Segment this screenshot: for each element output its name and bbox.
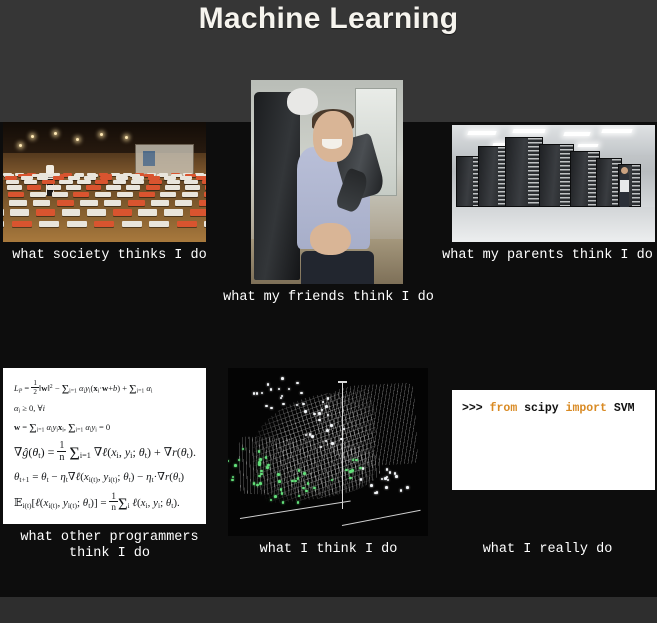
data-point	[270, 499, 273, 502]
space-3	[607, 402, 614, 415]
seated-person	[146, 185, 161, 190]
seated-person	[24, 180, 37, 184]
data-point	[318, 419, 321, 422]
ceiling-lamp	[19, 144, 22, 147]
data-point	[282, 501, 285, 504]
data-point	[305, 434, 308, 437]
data-point	[274, 495, 277, 498]
data-point	[325, 440, 328, 443]
data-point	[385, 486, 388, 489]
man-with-robot-photo	[251, 80, 403, 284]
data-point	[296, 382, 299, 385]
data-point	[270, 388, 273, 391]
seat-rows	[3, 170, 206, 242]
data-point	[291, 480, 294, 483]
data-point	[322, 401, 325, 404]
panel-really: >>> from scipy import SVM what I really …	[438, 368, 657, 578]
seated-person	[8, 192, 24, 197]
seated-person	[52, 192, 68, 197]
seated-person	[113, 209, 132, 215]
seated-person	[182, 192, 198, 197]
seated-person	[160, 192, 176, 197]
ceiling-lamp	[76, 138, 79, 141]
panel-friends: what my friends think I do	[219, 80, 438, 325]
seated-person	[128, 200, 145, 206]
caption-society: what society thinks I do	[0, 248, 219, 264]
lecture-hall-photo	[3, 122, 206, 242]
data-point	[265, 405, 268, 408]
ceiling-light	[512, 129, 546, 133]
seated-person	[164, 209, 183, 215]
seated-person	[126, 185, 141, 190]
seated-person	[42, 180, 55, 184]
seated-person	[151, 200, 168, 206]
data-point	[296, 404, 299, 407]
seated-person	[104, 200, 121, 206]
seated-person	[165, 185, 180, 190]
seated-person	[57, 200, 74, 206]
seated-person	[167, 180, 180, 184]
data-point	[270, 407, 273, 410]
seated-person	[62, 209, 81, 215]
python-repl-panel[interactable]: >>> from scipy import SVM	[452, 390, 655, 490]
server-room-photo	[452, 125, 655, 242]
equation-expectation: 𝔼i(t)[ℓ(xi(t), yi(t); θt)] = 1nΣi ℓ(xi, …	[14, 491, 197, 512]
data-point	[349, 470, 352, 473]
data-point	[406, 486, 409, 489]
data-point	[228, 460, 229, 463]
seated-person	[9, 200, 26, 206]
seated-person	[149, 180, 162, 184]
data-point	[370, 484, 373, 487]
seated-person	[73, 192, 89, 197]
module-scipy: scipy	[524, 402, 559, 415]
equation-lagrangian: LP = 12‖w‖2 − Σi=1 αiyi(xi·w+b) + Σi=1 α…	[14, 379, 197, 396]
data-point	[232, 476, 235, 479]
data-point	[321, 409, 324, 412]
data-point	[400, 489, 403, 492]
data-point	[386, 468, 389, 471]
ceiling-light	[602, 129, 634, 133]
data-point	[313, 487, 316, 490]
seated-person	[204, 221, 206, 228]
equation-weights: w = Σi=1 αiyixi, Σi=1 αiyi = 0	[14, 422, 197, 434]
data-point	[267, 383, 270, 386]
symbol-svm: SVM	[614, 402, 635, 415]
equation-list: LP = 12‖w‖2 − Σi=1 αiyi(xi·w+b) + Σi=1 α…	[3, 368, 206, 524]
seated-person	[47, 185, 62, 190]
caption-really: what I really do	[438, 542, 657, 558]
data-point	[278, 480, 281, 483]
data-point	[281, 377, 284, 380]
seated-person	[33, 200, 50, 206]
data-point	[281, 492, 284, 495]
seated-person	[138, 209, 157, 215]
rack-face	[632, 165, 640, 206]
data-point	[343, 428, 346, 431]
data-point	[256, 484, 259, 487]
robot-head	[287, 88, 317, 115]
data-point	[307, 482, 310, 485]
equation-constraint: αi ≥ 0, ∀i	[14, 403, 197, 415]
data-point	[280, 397, 283, 400]
data-point	[266, 466, 269, 469]
data-point	[278, 388, 281, 391]
data-point	[313, 413, 316, 416]
data-point	[305, 490, 308, 493]
data-point	[259, 482, 262, 485]
data-point	[253, 392, 256, 395]
data-point	[277, 473, 280, 476]
data-point	[331, 479, 334, 482]
man-head	[313, 111, 353, 162]
seated-person	[131, 180, 144, 184]
data-point	[297, 477, 300, 480]
seated-person	[205, 185, 206, 190]
space-2	[559, 402, 566, 415]
seated-person	[6, 180, 19, 184]
data-point	[349, 477, 352, 480]
panel-society: what society thinks I do	[0, 122, 219, 322]
seated-person	[113, 180, 126, 184]
data-point	[352, 459, 355, 462]
data-point	[374, 492, 377, 495]
data-point	[234, 464, 237, 467]
seated-person	[39, 221, 59, 228]
seated-person	[3, 209, 4, 215]
data-point	[327, 414, 330, 417]
ceiling-lamp	[54, 132, 57, 135]
seated-person	[80, 200, 97, 206]
man-clasped-hands	[310, 223, 351, 256]
equation-update: θt+1 = θt − ηt∇ℓ(xi(t), yi(t); θt) − ηt·…	[14, 470, 197, 484]
data-point	[303, 472, 306, 475]
seated-person	[149, 221, 169, 228]
data-point	[394, 472, 397, 475]
panel-parents: what my parents think I do	[438, 122, 657, 322]
technician-figure	[620, 173, 629, 207]
data-point	[294, 480, 297, 483]
seated-person	[122, 221, 142, 228]
data-point	[258, 450, 261, 453]
data-point	[355, 459, 358, 462]
data-point	[302, 403, 305, 406]
seated-person	[204, 192, 206, 197]
seated-person	[30, 192, 46, 197]
seated-person	[86, 185, 101, 190]
server-rack	[505, 137, 544, 207]
data-point	[309, 433, 312, 436]
seated-person	[106, 185, 121, 190]
data-point	[340, 438, 343, 441]
seated-person	[94, 221, 114, 228]
seated-person	[199, 200, 206, 206]
data-point	[298, 469, 301, 472]
seated-person	[67, 221, 87, 228]
data-point	[302, 487, 305, 490]
data-point	[297, 501, 300, 504]
seated-person	[3, 221, 4, 228]
data-point	[282, 403, 285, 406]
data-point	[261, 392, 264, 395]
data-point	[298, 495, 301, 498]
keyword-from: from	[490, 402, 518, 415]
data-point	[311, 435, 314, 438]
data-point	[238, 459, 241, 462]
data-point	[327, 397, 330, 400]
data-point	[360, 478, 363, 481]
data-point	[387, 479, 390, 482]
server-rack	[539, 144, 573, 207]
data-point	[330, 424, 333, 427]
seated-person	[59, 180, 72, 184]
seated-person	[139, 192, 155, 197]
svm-3d-plot	[228, 368, 428, 536]
data-point	[326, 429, 329, 432]
caption-parents: what my parents think I do	[438, 248, 657, 264]
math-equations-panel: LP = 12‖w‖2 − Σi=1 αiyi(xi·w+b) + Σi=1 α…	[3, 368, 206, 524]
meme-canvas: Machine Learning what society thinks I d…	[0, 0, 657, 623]
seated-person	[177, 221, 197, 228]
panel-think: what I think I do	[219, 368, 438, 578]
data-point	[265, 456, 268, 459]
ceiling-light	[468, 131, 498, 135]
data-point	[345, 469, 348, 472]
panel-programmers: LP = 12‖w‖2 − Σi=1 αiyi(xi·w+b) + Σi=1 α…	[0, 368, 219, 578]
data-point	[389, 471, 392, 474]
data-point	[318, 412, 321, 415]
data-point	[242, 448, 245, 451]
ceiling-light	[577, 144, 598, 147]
data-point	[258, 475, 261, 478]
data-point	[325, 405, 328, 408]
seated-person	[27, 185, 42, 190]
seated-person	[77, 180, 90, 184]
data-point	[231, 479, 234, 482]
data-point	[300, 392, 303, 395]
seated-person	[95, 180, 108, 184]
seated-person	[190, 209, 206, 215]
repl-code-line: >>> from scipy import SVM	[462, 402, 635, 415]
data-point	[281, 395, 284, 398]
robot-body	[254, 92, 300, 280]
seated-person	[184, 180, 197, 184]
caption-friends: what my friends think I do	[219, 290, 438, 306]
seated-person	[95, 192, 111, 197]
seated-person	[66, 185, 81, 190]
caption-programmers: what other programmers think I do	[0, 530, 219, 562]
equation-gradient: ∇ĝ(θt) = 1n Σi=1 ∇ℓ(xi, yi; θt) + ∇r(θt)…	[14, 440, 197, 463]
data-point	[304, 410, 307, 413]
scatter-points	[228, 368, 428, 536]
man-legs	[301, 251, 374, 284]
caption-think: what I think I do	[219, 542, 438, 558]
seated-person	[12, 221, 32, 228]
seated-person	[7, 185, 22, 190]
footer-band	[0, 597, 657, 623]
ceiling-light	[563, 132, 591, 136]
keyword-import: import	[566, 402, 607, 415]
data-point	[256, 392, 259, 395]
seated-person	[10, 209, 29, 215]
seated-person	[36, 209, 55, 215]
seated-person	[87, 209, 106, 215]
data-point	[331, 442, 334, 445]
seated-person	[202, 180, 206, 184]
data-point	[280, 488, 283, 491]
data-point	[258, 463, 261, 466]
seated-person	[185, 185, 200, 190]
data-point	[395, 475, 398, 478]
repl-prompt: >>>	[462, 402, 490, 415]
seated-person	[117, 192, 133, 197]
panel-grid: what society thinks I do what my friends…	[0, 122, 657, 597]
data-point	[362, 467, 365, 470]
page-title: Machine Learning	[0, 2, 657, 36]
seated-person	[175, 200, 192, 206]
floor	[452, 207, 655, 242]
data-point	[320, 446, 323, 449]
data-point	[381, 478, 384, 481]
data-point	[288, 388, 291, 391]
